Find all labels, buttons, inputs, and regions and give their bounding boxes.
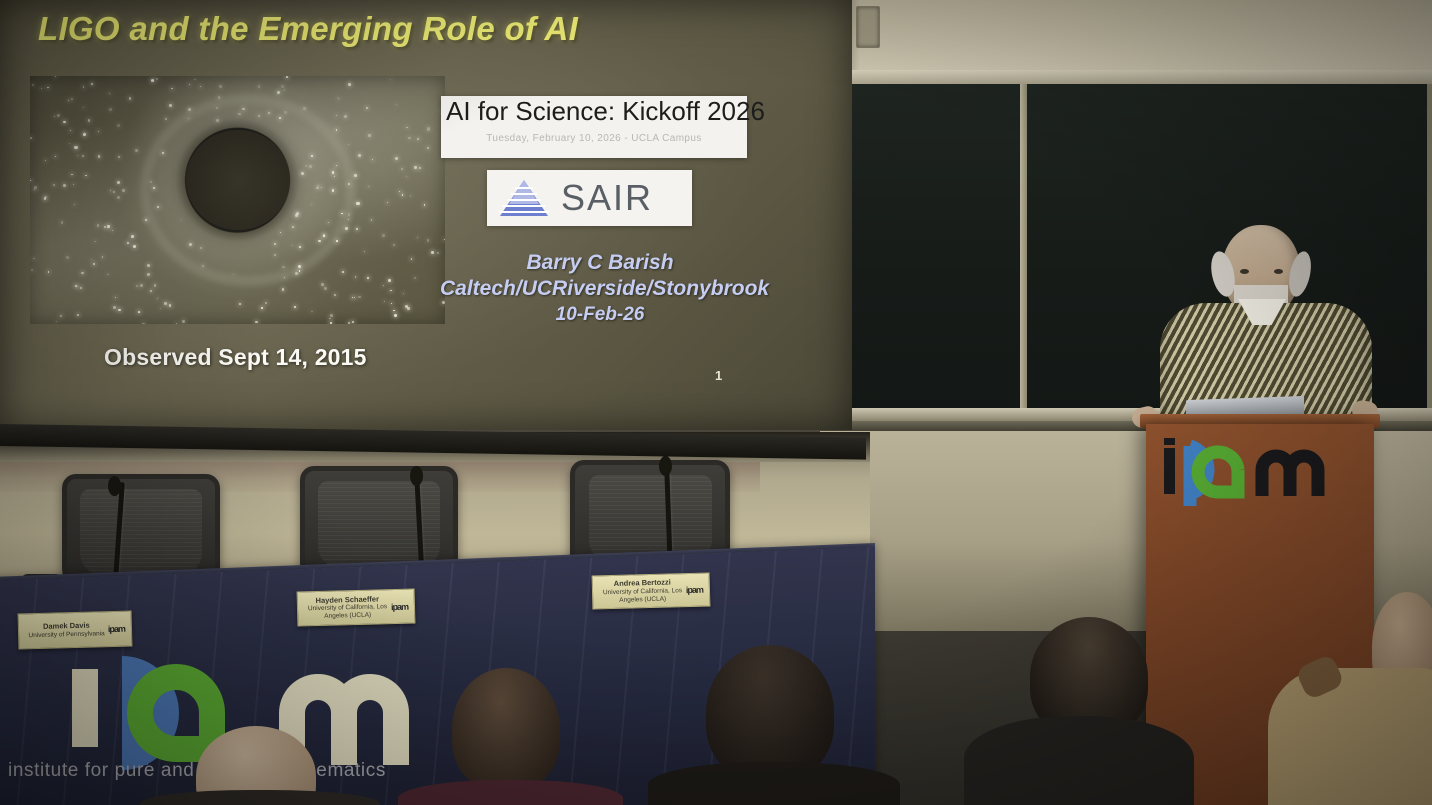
star [371,219,373,221]
author-name: Barry C Barish [440,250,760,276]
star [277,91,280,94]
star [296,212,299,215]
star [258,85,261,88]
star [113,306,116,309]
star [107,225,110,228]
star [281,85,284,88]
star [102,256,104,258]
star [131,235,134,238]
star [136,285,139,288]
star [311,311,313,313]
star [348,219,349,220]
star [150,290,152,292]
star [324,287,327,290]
star [138,311,140,313]
star [200,86,201,87]
star [261,307,263,309]
star [47,87,49,89]
star [330,314,333,317]
star [30,180,31,181]
star [150,181,152,183]
kickoff-headline: AI for Science: Kickoff 2026 [441,96,747,127]
star [424,204,425,205]
star [83,86,85,88]
star [292,245,293,246]
star [334,176,335,177]
star [427,239,430,242]
star [294,306,296,308]
kickoff-banner: AI for Science: Kickoff 2026 Tuesday, Fe… [441,96,747,158]
star [354,174,357,177]
star [156,78,158,80]
star [110,190,112,192]
panel-chair [62,474,210,584]
star [33,258,35,260]
star [109,108,112,111]
star [329,318,331,320]
star [311,204,312,205]
star [348,213,351,216]
placard-affiliation: University of California, Los Angeles (U… [308,603,387,620]
star [55,156,56,157]
speaker-eye-right [1274,269,1283,274]
star [403,293,404,294]
sair-logo: SAIR [487,170,692,226]
star [117,196,120,199]
star [410,195,412,197]
star [219,85,222,88]
star [140,284,143,287]
star [414,166,417,169]
star [431,251,434,254]
star [135,149,138,152]
star [355,276,357,278]
star [142,323,144,324]
placard-logo: ipam [108,624,125,634]
star [338,98,339,99]
star [348,83,351,86]
star [356,202,359,205]
star [444,239,445,240]
placard-affiliation: University of California, Los Angeles (U… [603,587,682,604]
star [202,265,204,267]
star [372,159,374,161]
star [383,285,384,286]
star [104,226,106,228]
star [437,252,439,254]
star [113,191,115,193]
star [74,146,77,149]
star [382,234,385,237]
star [216,119,219,122]
star [345,227,348,230]
star [181,219,182,220]
star [117,124,120,127]
star [299,246,301,248]
star [265,302,267,304]
star [216,107,218,109]
star [358,154,361,157]
star [63,184,66,187]
star [279,117,281,119]
star [32,84,34,86]
starfield [30,76,445,324]
star [368,186,369,187]
star [218,96,221,99]
author-date: 10-Feb-26 [440,303,760,328]
star [406,176,408,178]
podium-ipam-logo [1160,438,1335,510]
star [342,271,345,274]
star [171,88,172,89]
star [189,84,190,85]
placard-text: Hayden Schaeffer University of Californi… [304,594,392,622]
star [395,157,398,160]
star [48,271,49,272]
star [336,240,338,242]
star [295,272,298,275]
star [368,134,370,136]
star [176,323,177,324]
sair-pyramid-icon [495,178,553,218]
star [45,160,46,161]
star [299,270,301,272]
star [367,277,369,279]
star [112,230,113,231]
star [282,266,284,268]
star [69,143,70,144]
star [298,265,301,268]
star [53,184,56,187]
star [336,129,338,131]
audience-head [706,645,834,780]
star [162,152,164,154]
star [57,114,60,117]
star [147,273,150,276]
speaker-eye-left [1240,269,1249,274]
star [336,165,337,166]
star [390,290,392,292]
star [292,226,294,228]
author-affiliation: Caltech/UCRiverside/Stonybrook [440,276,760,302]
star [71,174,73,176]
audience-head [452,668,560,790]
star [233,274,234,275]
star [169,104,172,107]
star [80,287,82,289]
star [401,168,404,171]
star [56,321,58,323]
star [414,277,417,280]
star [321,187,322,188]
star [309,165,312,168]
sair-logo-text: SAIR [561,177,653,219]
star [323,234,326,237]
star [98,155,100,157]
star [258,115,260,117]
star [411,258,413,260]
star [157,298,159,300]
star [61,221,64,224]
star [284,89,285,90]
star [60,315,62,317]
star [356,228,358,230]
star [117,181,120,184]
star [122,189,125,192]
star [133,245,136,248]
star [82,155,84,157]
star [305,165,307,167]
star [41,88,42,89]
star [332,189,334,191]
star [396,104,397,105]
star [97,224,99,226]
star [366,107,368,109]
star [282,288,285,291]
star [147,264,150,267]
chalkboard-divider [1020,84,1027,414]
audience-shoulders [1268,668,1432,805]
star [284,277,285,278]
upper-wall [820,0,1432,72]
star [394,314,397,317]
star [387,202,388,203]
microphone-head [108,476,121,496]
star [238,113,240,115]
star [402,194,404,196]
star [311,155,313,157]
slide-author-block: Barry C Barish Caltech/UCRiverside/Stony… [440,250,760,327]
star [399,191,401,193]
star [34,189,35,190]
star [352,321,354,323]
star [182,320,185,323]
star [419,167,421,169]
star [344,115,347,118]
placard-text: Andrea Bertozzi University of California… [599,577,687,605]
name-placard: Andrea Bertozzi University of California… [592,572,711,609]
projection-screen: LIGO and the Emerging Role of AI AI for … [0,0,852,430]
star [107,274,109,276]
name-placard: Hayden Schaeffer University of Californi… [297,588,416,626]
star [66,256,69,259]
star [115,297,116,298]
star [332,171,334,173]
star [129,97,131,99]
star [280,232,281,233]
star [73,184,74,185]
star [55,76,56,77]
star [417,237,418,238]
star [427,147,429,149]
microphone-head [410,466,423,486]
star [274,243,276,245]
star [30,137,32,139]
star [303,107,306,110]
star [194,79,196,81]
star [336,115,337,116]
placard-logo: ipam [686,585,703,595]
chair-mesh [80,489,201,575]
star [83,107,84,108]
star [200,247,202,249]
star [242,108,244,110]
star [63,121,66,124]
star [321,283,324,286]
star [388,279,391,282]
star [330,322,332,324]
star [70,130,71,131]
star [164,302,167,305]
placard-text: Damek Davis University of Pennsylvania [25,620,108,640]
placard-logo: ipam [391,601,408,611]
star [268,112,271,115]
star [391,303,392,304]
star [189,243,192,246]
projection-screen-assembly: LIGO and the Emerging Role of AI AI for … [0,0,866,448]
star [427,127,430,130]
star [165,118,167,120]
star [364,251,365,252]
star [44,197,47,200]
star [94,241,96,243]
star [153,187,155,189]
star [151,79,154,82]
slide-page-number: 1 [715,368,722,383]
star [91,259,92,260]
star [85,175,87,177]
star [109,93,110,94]
star [118,156,120,158]
star [91,83,94,86]
star [334,294,337,297]
star [286,76,288,78]
slide-caption: Observed Sept 14, 2015 [104,344,367,371]
audience-shoulders [964,716,1194,805]
star [68,100,69,101]
star [284,111,287,114]
star [77,155,78,156]
star [118,309,121,312]
chalkboard-right-frame [1427,84,1432,414]
star [318,240,321,243]
star [417,138,419,140]
star [358,296,360,298]
star [316,187,318,189]
star [393,310,394,311]
star [408,137,411,140]
star [98,131,99,132]
star [31,269,34,272]
star [255,321,258,324]
star [274,254,276,256]
star [145,219,147,221]
star [154,284,156,286]
star [169,304,172,307]
slide-title: LIGO and the Emerging Role of AI [38,10,738,48]
audience-shoulders [648,762,900,805]
star [77,314,79,316]
placard-affiliation: University of Pennsylvania [28,630,104,639]
star [188,108,191,111]
star [157,206,159,208]
star [348,183,350,185]
star [81,272,84,275]
star [54,116,55,117]
star [160,308,161,309]
star [406,127,408,129]
star [93,263,95,265]
star [384,301,385,302]
star [328,222,330,224]
star [74,204,75,205]
star [354,297,355,298]
kickoff-subline: Tuesday, February 10, 2026 - UCLA Campus [441,133,747,144]
star [348,144,350,146]
star [83,133,86,136]
chalkboard-top-rail [820,70,1432,84]
microphone-head [659,456,672,476]
star [390,79,392,81]
name-placard: Damek Davis University of Pennsylvania i… [18,611,133,650]
star [341,213,342,214]
star [88,119,91,122]
black-hole-image [30,76,445,324]
star [348,322,350,324]
star [393,244,395,246]
star [239,303,241,305]
star [188,118,189,119]
star [71,98,73,100]
star [301,172,304,175]
star [127,242,129,244]
lecture-hall-screenshot: LIGO and the Emerging Role of AI AI for … [0,0,1432,805]
